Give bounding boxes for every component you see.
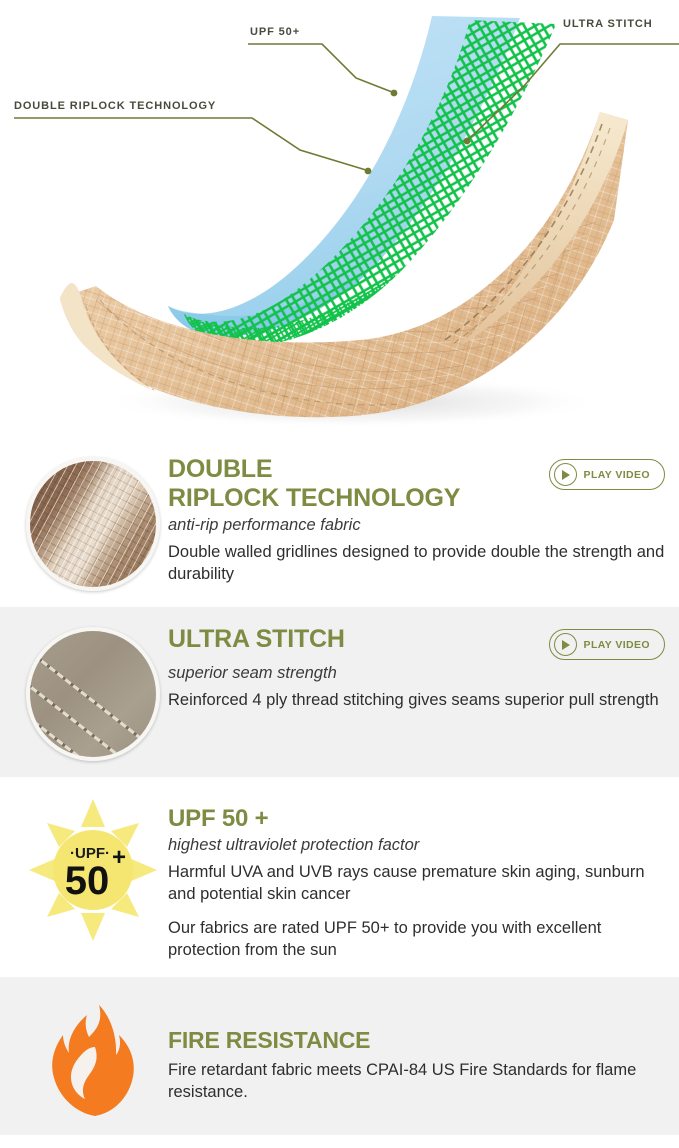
play-icon bbox=[554, 633, 577, 656]
feature-body: Fire retardant fabric meets CPAI-84 US F… bbox=[168, 1059, 665, 1103]
feature-subtitle: superior seam strength bbox=[168, 663, 665, 684]
feature-section-fire-resistance: FIRE RESISTANCE Fire retardant fabric me… bbox=[0, 977, 679, 1135]
sun-icon-plus-text: + bbox=[112, 844, 126, 871]
feature-body: Harmful UVA and UVB rays cause premature… bbox=[168, 861, 665, 905]
feature-section-upf-50: ·UPF· 50 + UPF 50 + highest ultraviolet … bbox=[0, 777, 679, 977]
play-video-label: PLAY VIDEO bbox=[584, 469, 650, 481]
feature-title-line2: RIPLOCK TECHNOLOGY bbox=[168, 484, 460, 512]
play-video-button-ultra-stitch[interactable]: PLAY VIDEO bbox=[549, 629, 665, 660]
play-video-label: PLAY VIDEO bbox=[584, 639, 650, 651]
diagram-label-upf: UPF 50+ bbox=[250, 26, 300, 38]
feature-body: Double walled gridlines designed to prov… bbox=[168, 541, 665, 585]
feature-section-ultra-stitch: ULTRA STITCH PLAY VIDEO superior seam st… bbox=[0, 607, 679, 777]
feature-title: UPF 50 + bbox=[168, 805, 665, 832]
fabric-photo-stitch-icon bbox=[26, 627, 160, 761]
feature-media bbox=[18, 453, 168, 591]
feature-subtitle: highest ultraviolet protection factor bbox=[168, 835, 665, 856]
feature-title: ULTRA STITCH bbox=[168, 625, 345, 654]
feature-media bbox=[18, 623, 168, 761]
sun-upf-icon: ·UPF· 50 + bbox=[25, 795, 161, 945]
feature-subtitle: anti-rip performance fabric bbox=[168, 515, 665, 536]
play-icon bbox=[554, 463, 577, 486]
play-video-button-double-riplock[interactable]: PLAY VIDEO bbox=[549, 459, 665, 490]
flame-icon bbox=[47, 1003, 139, 1119]
feature-section-double-riplock: DOUBLE RIPLOCK TECHNOLOGY PLAY VIDEO ant… bbox=[0, 437, 679, 607]
feature-media bbox=[18, 993, 168, 1119]
feature-body-secondary: Our fabrics are rated UPF 50+ to provide… bbox=[168, 917, 665, 961]
feature-title-line1: DOUBLE bbox=[168, 455, 272, 483]
product-feature-page: UPF 50+ ULTRA STITCH DOUBLE RIPLOCK TECH… bbox=[0, 0, 679, 1148]
fabric-cutaway-diagram: UPF 50+ ULTRA STITCH DOUBLE RIPLOCK TECH… bbox=[0, 0, 679, 437]
feature-body: Reinforced 4 ply thread stitching gives … bbox=[168, 689, 665, 711]
diagram-label-ultra-stitch: ULTRA STITCH bbox=[563, 18, 653, 30]
sun-icon-value-text: 50 bbox=[65, 859, 110, 903]
diagram-label-double-riplock: DOUBLE RIPLOCK TECHNOLOGY bbox=[14, 100, 216, 112]
feature-title: FIRE RESISTANCE bbox=[168, 1027, 665, 1053]
feature-media: ·UPF· 50 + bbox=[18, 793, 168, 945]
fabric-layers-illustration bbox=[0, 0, 679, 437]
feature-title: DOUBLE RIPLOCK TECHNOLOGY bbox=[168, 455, 460, 512]
fabric-photo-ripstop-icon bbox=[26, 457, 160, 591]
